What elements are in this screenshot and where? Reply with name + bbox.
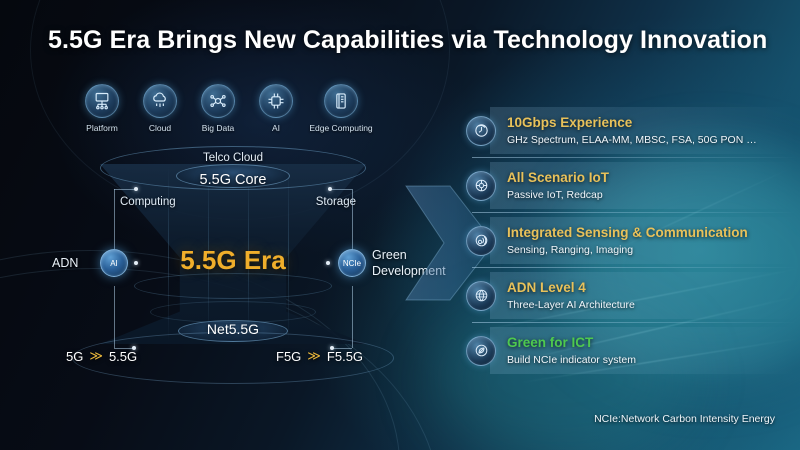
slide-title: 5.5G Era Brings New Capabilities via Tec… <box>48 26 768 55</box>
platform-icon <box>85 84 119 118</box>
capability-desc: Three-Layer AI Architecture <box>507 299 635 312</box>
capability-text: All Scenario IoT Passive IoT, Redcap <box>507 170 609 202</box>
waist-ellipse <box>134 273 332 299</box>
big-data-icon <box>201 84 235 118</box>
evolution-right-from: F5G <box>276 349 301 364</box>
core-label: 5.5G Core <box>58 172 408 188</box>
ai-icon <box>259 84 293 118</box>
autonomous-network-icon <box>466 281 496 311</box>
capability-row-green-for-ict[interactable]: Green for ICT Build NCIe indicator syste… <box>462 323 792 378</box>
connector-right-top <box>330 189 352 190</box>
capability-title: 10Gbps Experience <box>507 115 757 131</box>
speedometer-icon <box>466 116 496 146</box>
capability-text: Green for ICT Build NCIe indicator syste… <box>507 335 636 367</box>
ai-node-label: AI <box>110 259 118 268</box>
chevron-right-icon: ≫ <box>89 348 103 364</box>
capability-row-adn-level-4[interactable]: ADN Level 4 Three-Layer AI Architecture <box>462 268 792 323</box>
connector-left-top <box>114 189 136 190</box>
capability-desc: Passive IoT, Redcap <box>507 189 609 202</box>
connector-left-lower <box>114 286 115 348</box>
evolution-left: 5G ≫ 5.5G <box>66 348 137 364</box>
ncie-node-label: NCIe <box>343 259 361 268</box>
capability-title: Green for ICT <box>507 335 636 351</box>
evolution-right-to: F5.5G <box>327 349 363 364</box>
cloud-icon <box>143 84 177 118</box>
ncie-node-badge[interactable]: NCIe <box>338 249 366 277</box>
capability-text: Integrated Sensing & Communication Sensi… <box>507 225 748 257</box>
telco-cloud-label: Telco Cloud <box>58 152 408 164</box>
storage-label: Storage <box>316 196 356 208</box>
connector-right-lower <box>352 286 353 348</box>
capability-text: ADN Level 4 Three-Layer AI Architecture <box>507 280 635 312</box>
computing-label: Computing <box>120 196 176 208</box>
iot-network-icon <box>466 171 496 201</box>
capability-desc: GHz Spectrum, ELAA-MM, MBSC, FSA, 50G PO… <box>507 134 757 147</box>
ai-node-dot <box>134 261 138 265</box>
evolution-left-to: 5.5G <box>109 349 137 364</box>
chevron-right-icon: ≫ <box>307 348 321 364</box>
capability-row-all-scenario-iot[interactable]: All Scenario IoT Passive IoT, Redcap <box>462 158 792 213</box>
connector-dot <box>134 187 138 191</box>
evolution-left-from: 5G <box>66 349 83 364</box>
evolution-right: F5G ≫ F5.5G <box>276 348 363 364</box>
capability-desc: Sensing, Ranging, Imaging <box>507 244 748 257</box>
capability-desc: Build NCIe indicator system <box>507 354 636 367</box>
capability-title: All Scenario IoT <box>507 170 609 186</box>
leaf-icon <box>466 336 496 366</box>
net-label: Net5.5G <box>58 321 408 337</box>
ai-node-badge[interactable]: AI <box>100 249 128 277</box>
capability-row-integrated-sensing-communication[interactable]: Integrated Sensing & Communication Sensi… <box>462 213 792 268</box>
hourglass-diagram: Telco Cloud 5.5G Core Computing Storage … <box>58 120 408 385</box>
connector-dot <box>328 187 332 191</box>
slide-canvas: 5.5G Era Brings New Capabilities via Tec… <box>0 0 800 450</box>
capability-text: 10Gbps Experience GHz Spectrum, ELAA-MM,… <box>507 115 757 147</box>
footnote: NCIe:Network Carbon Intensity Energy <box>594 413 775 425</box>
adn-label: ADN <box>52 256 78 272</box>
ncie-node-dot <box>326 261 330 265</box>
edge-computing-icon <box>324 84 358 118</box>
sensing-signal-icon <box>466 226 496 256</box>
capability-row-10gbps-experience[interactable]: 10Gbps Experience GHz Spectrum, ELAA-MM,… <box>462 103 792 158</box>
capability-title: Integrated Sensing & Communication <box>507 225 748 241</box>
capability-title: ADN Level 4 <box>507 280 635 296</box>
capability-list: 10Gbps Experience GHz Spectrum, ELAA-MM,… <box>462 103 792 378</box>
